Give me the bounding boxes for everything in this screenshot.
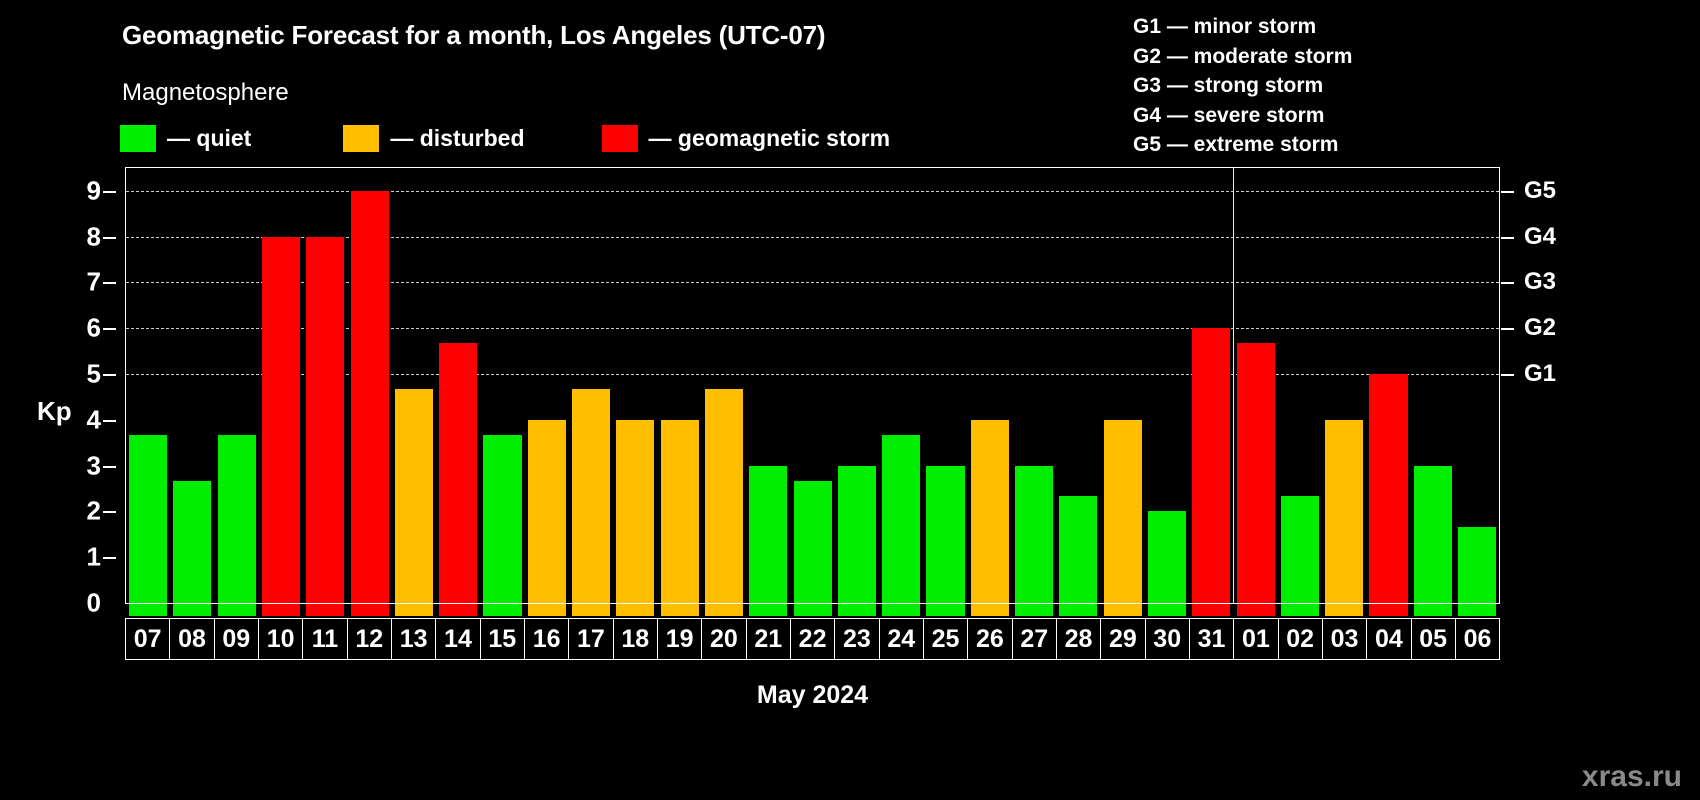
x-axis-day-04[interactable]: 04: [1367, 619, 1411, 659]
x-color-marker-04: [1369, 604, 1407, 616]
y-axis-tickmark-9: [103, 191, 116, 193]
bar-slot-17[interactable]: [569, 168, 613, 603]
x-axis-day-21[interactable]: 21: [747, 619, 791, 659]
x-color-marker-12: [351, 604, 389, 616]
bar-25[interactable]: [926, 466, 964, 603]
x-color-marker-20: [705, 604, 743, 616]
bar-slot-10[interactable]: [259, 168, 303, 603]
x-axis-day-02[interactable]: 02: [1279, 619, 1323, 659]
x-color-slot-18: [613, 604, 657, 616]
bar-slot-18[interactable]: [613, 168, 657, 603]
x-color-slot-22: [790, 604, 834, 616]
x-color-slot-17: [569, 604, 613, 616]
x-color-slot-11: [303, 604, 347, 616]
y-axis-tick-7: 7: [87, 267, 101, 298]
bar-18[interactable]: [616, 420, 654, 603]
bar-slot-16[interactable]: [525, 168, 569, 603]
bar-slot-29[interactable]: [1101, 168, 1145, 603]
g-axis-tick-G1: G1: [1524, 360, 1556, 388]
x-color-slot-21: [746, 604, 790, 616]
x-color-slot-19: [658, 604, 702, 616]
bar-06[interactable]: [1458, 527, 1496, 603]
gscale-legend-item-g2: G2 — moderate storm: [1133, 42, 1352, 72]
bar-slot-06[interactable]: [1455, 168, 1499, 603]
x-axis-day-10[interactable]: 10: [259, 619, 303, 659]
bar-slot-31[interactable]: [1189, 168, 1233, 603]
g-axis-tick-G2: G2: [1524, 314, 1556, 342]
bar-19[interactable]: [661, 420, 699, 603]
x-axis-day-18[interactable]: 18: [614, 619, 658, 659]
x-color-marker-13: [395, 604, 433, 616]
bar-slot-05[interactable]: [1411, 168, 1455, 603]
bar-slot-27[interactable]: [1012, 168, 1056, 603]
bar-02[interactable]: [1281, 496, 1319, 603]
red-square-icon: [602, 125, 638, 152]
y-axis-tickmark-4: [103, 420, 116, 422]
y-axis-tickmark-1: [103, 557, 116, 559]
bar-29[interactable]: [1104, 420, 1142, 603]
y-axis-tick-1: 1: [87, 542, 101, 573]
x-axis-day-17[interactable]: 17: [569, 619, 613, 659]
x-color-slot-12: [347, 604, 391, 616]
legend-item-label: — quiet: [167, 125, 251, 152]
bar-13[interactable]: [395, 389, 433, 603]
gscale-legend-item-g1: G1 — minor storm: [1133, 12, 1352, 42]
x-color-marker-28: [1059, 604, 1097, 616]
x-color-marker-08: [173, 604, 211, 616]
x-color-marker-07: [129, 604, 167, 616]
bar-17[interactable]: [572, 389, 610, 603]
x-color-slot-02: [1278, 604, 1322, 616]
legend-item-disturbed: — disturbed: [343, 125, 524, 152]
bar-11[interactable]: [306, 237, 344, 603]
x-axis-day-19[interactable]: 19: [658, 619, 702, 659]
legend-item-label: — disturbed: [390, 125, 524, 152]
x-color-marker-18: [616, 604, 654, 616]
y-axis-tickmark-3: [103, 466, 116, 468]
x-color-slot-05: [1411, 604, 1455, 616]
watermark: xras.ru: [1582, 760, 1682, 794]
bar-slot-28[interactable]: [1056, 168, 1100, 603]
x-axis-day-05[interactable]: 05: [1412, 619, 1456, 659]
x-color-slot-30: [1145, 604, 1189, 616]
right-g-axis: G1G2G3G4G5: [1500, 167, 1620, 604]
g-axis-tickmark-G3: [1501, 282, 1514, 284]
x-color-slot-16: [525, 604, 569, 616]
x-axis-day-27[interactable]: 27: [1013, 619, 1057, 659]
x-axis-day-30[interactable]: 30: [1146, 619, 1190, 659]
x-axis-day-03[interactable]: 03: [1323, 619, 1367, 659]
x-axis-day-20[interactable]: 20: [702, 619, 746, 659]
x-color-slot-08: [170, 604, 214, 616]
x-color-slot-26: [968, 604, 1012, 616]
bar-slot-21[interactable]: [746, 168, 790, 603]
g-axis-tick-G3: G3: [1524, 268, 1556, 296]
bar-22[interactable]: [794, 481, 832, 603]
g-axis-tickmark-G2: [1501, 328, 1514, 330]
bar-15[interactable]: [483, 435, 521, 603]
x-color-marker-06: [1458, 604, 1496, 616]
bar-04[interactable]: [1369, 374, 1407, 603]
y-axis-tickmark-7: [103, 282, 116, 284]
y-axis-tick-3: 3: [87, 450, 101, 481]
x-color-slot-03: [1322, 604, 1366, 616]
x-color-slot-09: [215, 604, 259, 616]
x-color-marker-24: [882, 604, 920, 616]
bar-slot-12[interactable]: [347, 168, 391, 603]
g-axis-tickmark-G1: [1501, 374, 1514, 376]
x-color-slot-27: [1012, 604, 1056, 616]
x-axis-day-06[interactable]: 06: [1456, 619, 1499, 659]
bar-slot-15[interactable]: [480, 168, 524, 603]
g-axis-tickmark-G4: [1501, 237, 1514, 239]
y-axis-tick-5: 5: [87, 359, 101, 390]
bar-slot-03[interactable]: [1322, 168, 1366, 603]
x-axis-day-12[interactable]: 12: [348, 619, 392, 659]
x-axis-day-09[interactable]: 09: [215, 619, 259, 659]
g-axis-tickmark-G5: [1501, 191, 1514, 193]
x-axis-day-15[interactable]: 15: [481, 619, 525, 659]
bar-slot-01[interactable]: [1233, 168, 1277, 603]
y-axis-tick-8: 8: [87, 221, 101, 252]
bar-20[interactable]: [705, 389, 743, 603]
gscale-legend: G1 — minor stormG2 — moderate stormG3 — …: [1133, 12, 1352, 160]
bar-series: [126, 168, 1499, 603]
x-axis-day-28[interactable]: 28: [1057, 619, 1101, 659]
x-color-slot-31: [1189, 604, 1233, 616]
legend-item-label: — geomagnetic storm: [649, 125, 891, 152]
x-color-slot-14: [436, 604, 480, 616]
x-color-marker-29: [1104, 604, 1142, 616]
y-axis-tickmark-6: [103, 328, 116, 330]
x-color-marker-17: [572, 604, 610, 616]
bar-07[interactable]: [129, 435, 167, 603]
x-color-slot-20: [702, 604, 746, 616]
x-color-marker-23: [838, 604, 876, 616]
bar-24[interactable]: [882, 435, 920, 603]
x-color-slot-07: [126, 604, 170, 616]
y-axis-tick-6: 6: [87, 313, 101, 344]
bar-31[interactable]: [1192, 328, 1230, 603]
x-axis-day-11[interactable]: 11: [303, 619, 347, 659]
page-title: Geomagnetic Forecast for a month, Los An…: [122, 20, 825, 51]
y-axis-tickmark-8: [103, 237, 116, 239]
bar-slot-07[interactable]: [126, 168, 170, 603]
bar-slot-30[interactable]: [1145, 168, 1189, 603]
y-axis-tickmark-5: [103, 374, 116, 376]
x-color-marker-09: [218, 604, 256, 616]
x-axis-day-07[interactable]: 07: [126, 619, 170, 659]
bar-slot-08[interactable]: [170, 168, 214, 603]
x-color-marker-11: [306, 604, 344, 616]
x-color-marker-15: [483, 604, 521, 616]
bar-slot-02[interactable]: [1278, 168, 1322, 603]
gscale-legend-item-g3: G3 — strong storm: [1133, 71, 1352, 101]
x-color-marker-03: [1325, 604, 1363, 616]
x-axis-label: May 2024: [125, 681, 1500, 710]
y-axis: 0123456789: [0, 167, 125, 604]
y-axis-tick-2: 2: [87, 496, 101, 527]
x-color-slot-28: [1056, 604, 1100, 616]
bar-slot-14[interactable]: [436, 168, 480, 603]
bar-slot-11[interactable]: [303, 168, 347, 603]
x-color-marker-30: [1148, 604, 1186, 616]
bar-21[interactable]: [749, 466, 787, 603]
bar-14[interactable]: [439, 343, 477, 603]
x-color-marker-16: [528, 604, 566, 616]
x-axis-day-14[interactable]: 14: [436, 619, 480, 659]
x-color-slot-29: [1101, 604, 1145, 616]
x-axis-color-strip: [126, 604, 1499, 616]
x-color-slot-04: [1366, 604, 1410, 616]
x-color-marker-21: [749, 604, 787, 616]
y-axis-tick-4: 4: [87, 404, 101, 435]
x-axis-day-22[interactable]: 22: [791, 619, 835, 659]
y-axis-tick-0: 0: [87, 588, 101, 619]
magnetosphere-label: Magnetosphere: [122, 79, 289, 107]
bar-slot-23[interactable]: [835, 168, 879, 603]
chart-legend: — quiet— disturbed— geomagnetic storm: [120, 123, 890, 153]
x-color-slot-06: [1455, 604, 1499, 616]
g-axis-tick-G5: G5: [1524, 177, 1556, 205]
x-axis-day-26[interactable]: 26: [968, 619, 1012, 659]
y-axis-label: Kp: [37, 396, 72, 427]
x-color-marker-02: [1281, 604, 1319, 616]
bar-slot-20[interactable]: [702, 168, 746, 603]
x-color-slot-24: [879, 604, 923, 616]
bar-slot-13[interactable]: [392, 168, 436, 603]
x-color-marker-31: [1192, 604, 1230, 616]
x-color-marker-27: [1015, 604, 1053, 616]
bar-30[interactable]: [1148, 511, 1186, 603]
bar-slot-19[interactable]: [658, 168, 702, 603]
bar-03[interactable]: [1325, 420, 1363, 603]
x-axis-day-23[interactable]: 23: [835, 619, 879, 659]
bar-slot-04[interactable]: [1366, 168, 1410, 603]
orange-square-icon: [343, 125, 379, 152]
x-color-slot-01: [1233, 604, 1277, 616]
x-color-marker-14: [439, 604, 477, 616]
x-color-marker-25: [926, 604, 964, 616]
x-axis-day-29[interactable]: 29: [1101, 619, 1145, 659]
bar-slot-22[interactable]: [790, 168, 834, 603]
bar-05[interactable]: [1414, 466, 1452, 603]
green-square-icon: [120, 125, 156, 152]
x-axis-day-13[interactable]: 13: [392, 619, 436, 659]
bar-23[interactable]: [838, 466, 876, 603]
x-color-slot-13: [392, 604, 436, 616]
g-axis-tick-G4: G4: [1524, 223, 1556, 251]
x-color-slot-23: [835, 604, 879, 616]
x-color-slot-15: [480, 604, 524, 616]
bar-26[interactable]: [971, 420, 1009, 603]
x-color-marker-22: [794, 604, 832, 616]
x-axis-day-08[interactable]: 08: [170, 619, 214, 659]
bar-slot-25[interactable]: [923, 168, 967, 603]
bar-09[interactable]: [218, 435, 256, 603]
x-axis-day-24[interactable]: 24: [880, 619, 924, 659]
x-color-marker-01: [1237, 604, 1275, 616]
bar-10[interactable]: [262, 237, 300, 603]
bar-slot-26[interactable]: [968, 168, 1012, 603]
x-color-slot-10: [259, 604, 303, 616]
bar-12[interactable]: [351, 191, 389, 603]
legend-item-geomagneticstorm: — geomagnetic storm: [602, 125, 891, 152]
x-color-marker-05: [1414, 604, 1452, 616]
x-color-slot-25: [923, 604, 967, 616]
gscale-legend-item-g4: G4 — severe storm: [1133, 101, 1352, 131]
bar-slot-24[interactable]: [879, 168, 923, 603]
bar-slot-09[interactable]: [215, 168, 259, 603]
bar-27[interactable]: [1015, 466, 1053, 603]
x-axis-day-labels: 0708091011121314151617181920212223242526…: [125, 618, 1500, 660]
x-axis-day-31[interactable]: 31: [1190, 619, 1234, 659]
x-color-marker-10: [262, 604, 300, 616]
legend-item-quiet: — quiet: [120, 125, 251, 152]
gscale-legend-item-g5: G5 — extreme storm: [1133, 130, 1352, 160]
bar-08[interactable]: [173, 481, 211, 603]
x-axis-day-16[interactable]: 16: [525, 619, 569, 659]
bar-16[interactable]: [528, 420, 566, 603]
y-axis-tickmark-2: [103, 511, 116, 513]
y-axis-tick-9: 9: [87, 175, 101, 206]
x-axis-day-25[interactable]: 25: [924, 619, 968, 659]
x-axis-day-01[interactable]: 01: [1234, 619, 1278, 659]
bar-01[interactable]: [1237, 343, 1275, 603]
x-color-marker-19: [661, 604, 699, 616]
x-color-marker-26: [971, 604, 1009, 616]
bar-28[interactable]: [1059, 496, 1097, 603]
